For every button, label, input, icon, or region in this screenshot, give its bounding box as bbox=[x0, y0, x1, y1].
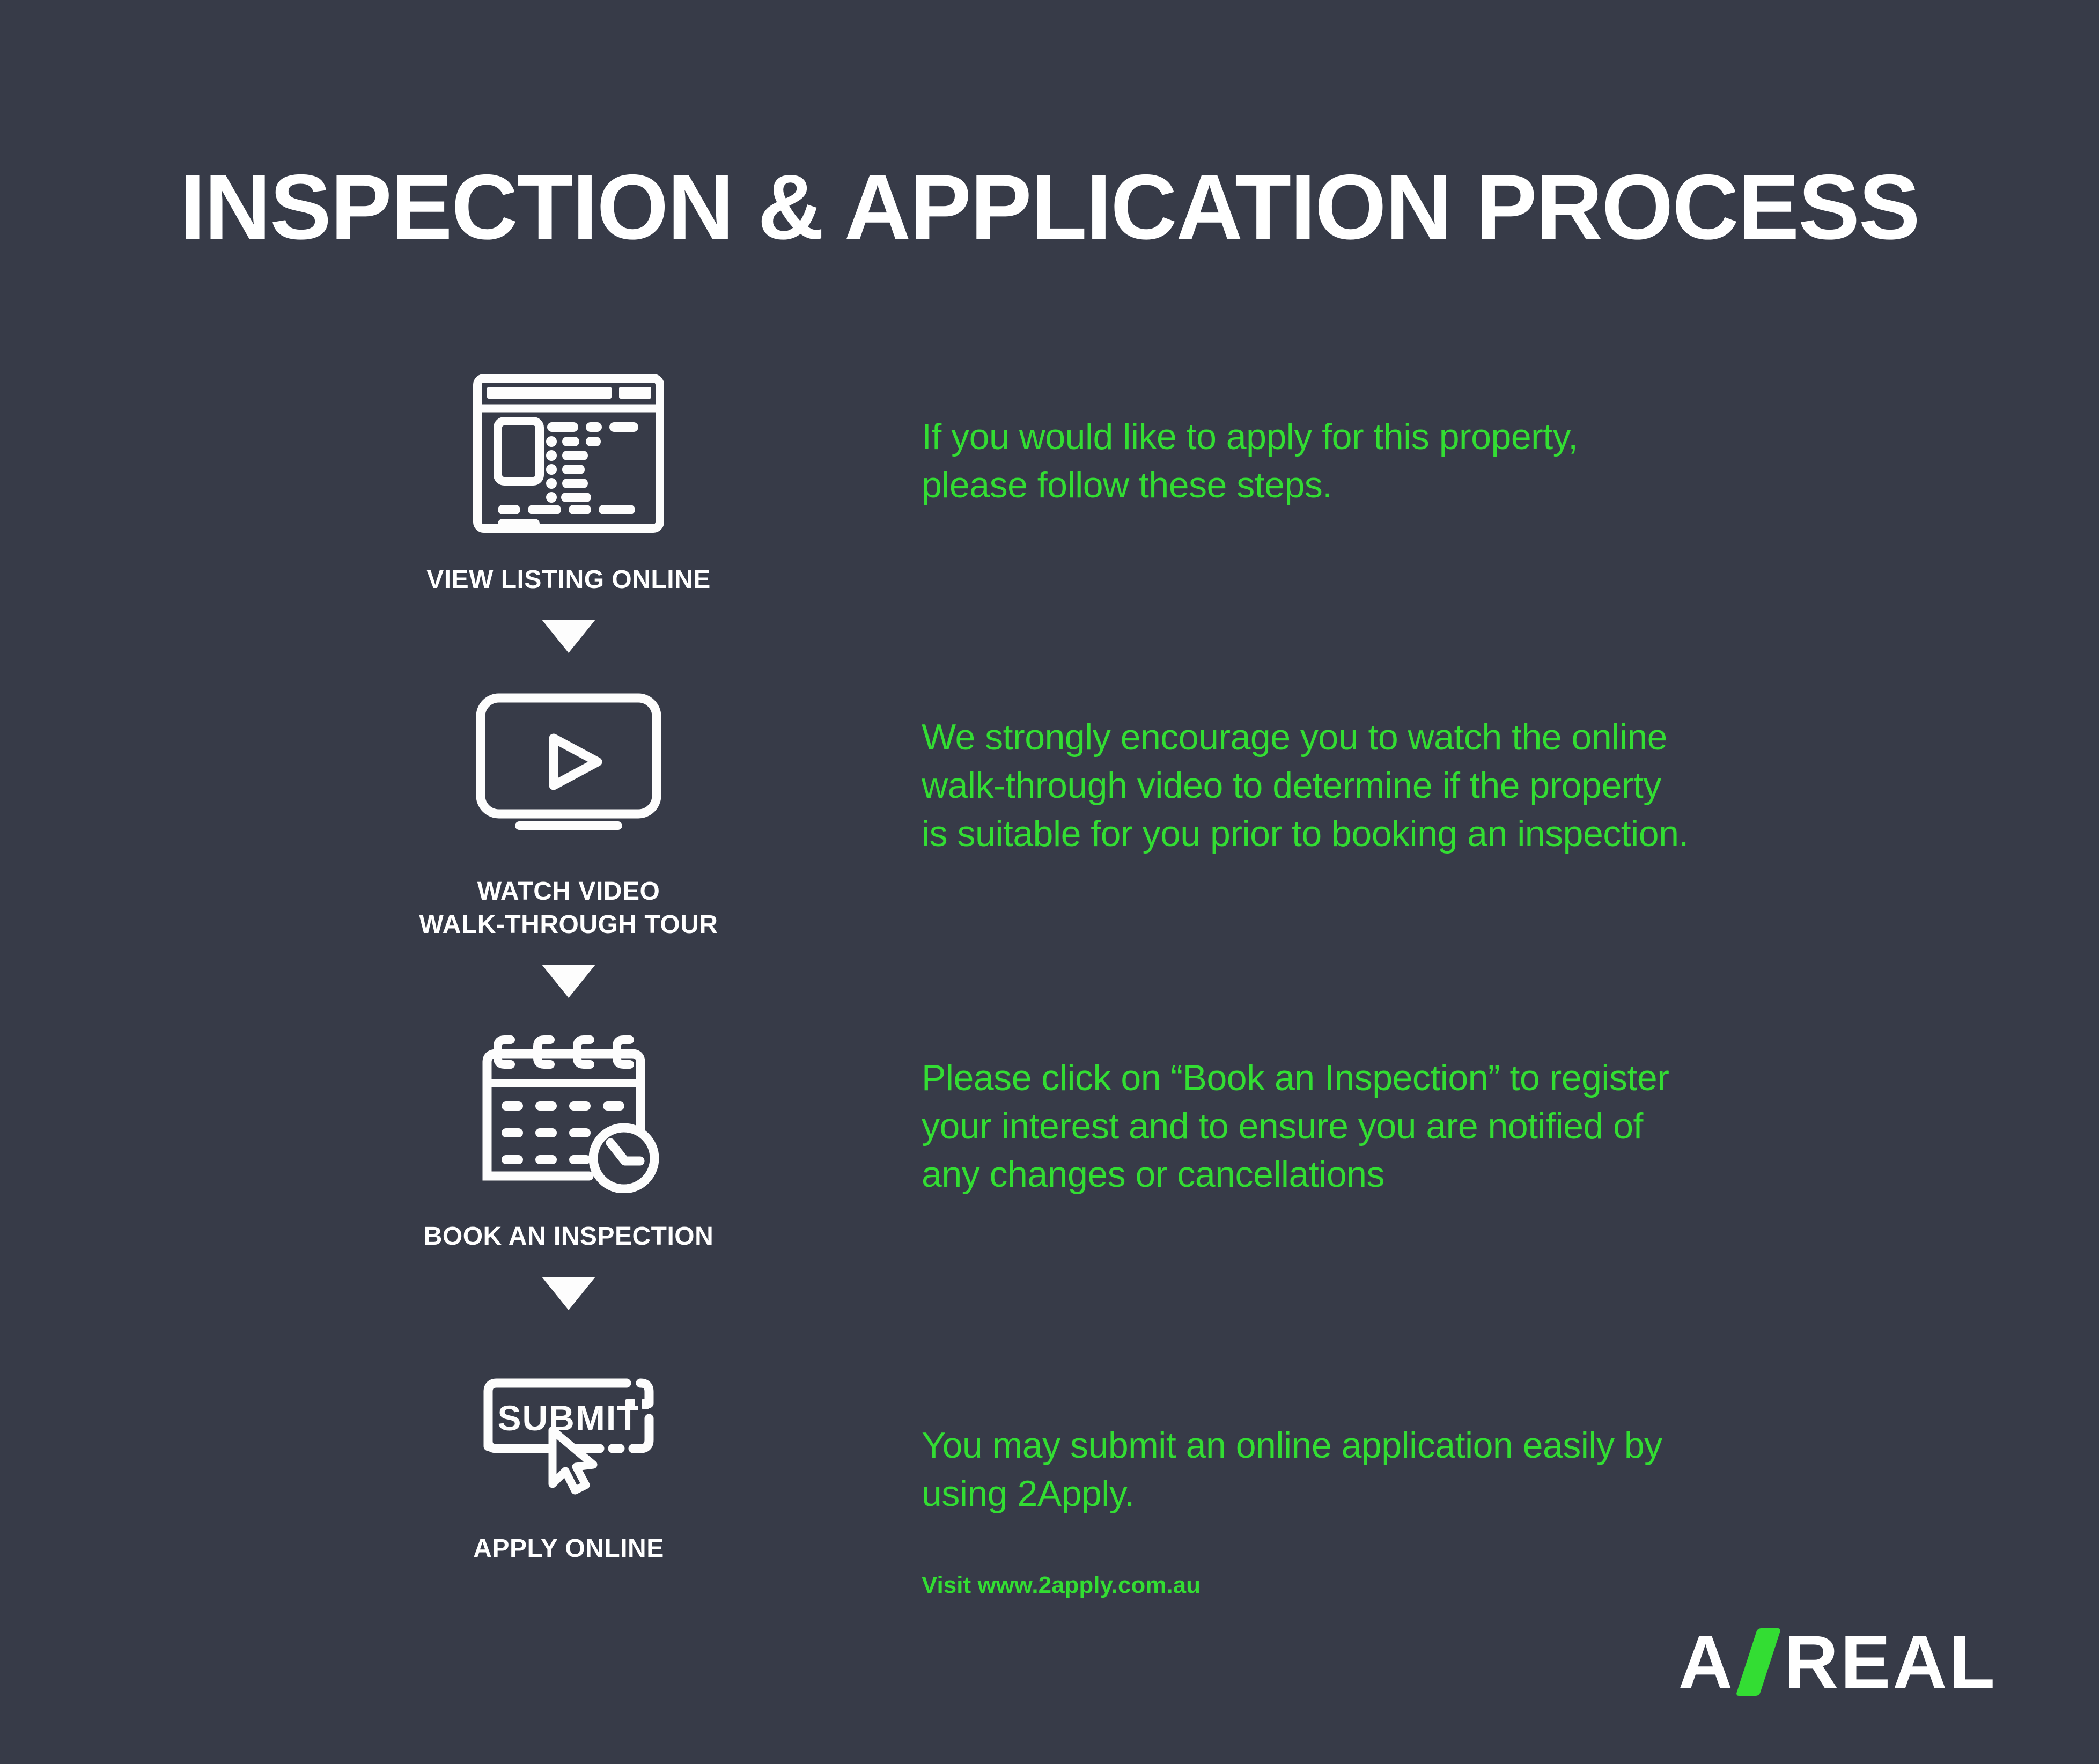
visit-url-line[interactable]: Visit www.2apply.com.au bbox=[922, 1572, 1201, 1599]
page-title: INSPECTION & APPLICATION PROCESS bbox=[0, 161, 2099, 253]
step-apply-online[interactable]: SUBMIT APPLY ONLINE bbox=[354, 1334, 783, 1565]
step-label: APPLY ONLINE bbox=[473, 1532, 664, 1565]
logo-word-real: REAL bbox=[1784, 1625, 1997, 1700]
process-flow: VIEW LISTING ONLINE WATCH VIDEO WALK-THR… bbox=[354, 365, 783, 1565]
step-book-an-inspection[interactable]: BOOK AN INSPECTION bbox=[354, 1021, 783, 1253]
copy-block-1: If you would like to apply for this prop… bbox=[922, 413, 1860, 510]
step-label: WATCH VIDEO WALK-THROUGH TOUR bbox=[419, 875, 718, 941]
submit-button-cursor-icon: SUBMIT bbox=[461, 1334, 676, 1511]
logo-slash-icon bbox=[1735, 1628, 1781, 1696]
step-watch-video[interactable]: WATCH VIDEO WALK-THROUGH TOUR bbox=[354, 677, 783, 941]
copy-block-2: We strongly encourage you to watch the o… bbox=[922, 714, 1903, 858]
submit-icon-text: SUBMIT bbox=[498, 1398, 640, 1438]
step-label: BOOK AN INSPECTION bbox=[424, 1220, 714, 1253]
calendar-clock-icon bbox=[461, 1021, 676, 1199]
copy-block-3: Please click on “Book an Inspection” to … bbox=[922, 1054, 1876, 1199]
triangle-down-icon bbox=[354, 965, 783, 998]
step-label: VIEW LISTING ONLINE bbox=[426, 563, 711, 596]
step-view-listing-online[interactable]: VIEW LISTING ONLINE bbox=[354, 365, 783, 596]
copy-block-4: You may submit an online application eas… bbox=[922, 1422, 1876, 1518]
brand-logo: A REAL bbox=[1678, 1625, 1997, 1700]
video-play-monitor-icon bbox=[461, 677, 676, 854]
triangle-down-icon bbox=[354, 620, 783, 653]
poster-canvas: INSPECTION & APPLICATION PROCESS bbox=[0, 0, 2099, 1764]
browser-listing-icon bbox=[461, 365, 676, 542]
triangle-down-icon bbox=[354, 1277, 783, 1310]
logo-letter-a: A bbox=[1678, 1625, 1735, 1700]
